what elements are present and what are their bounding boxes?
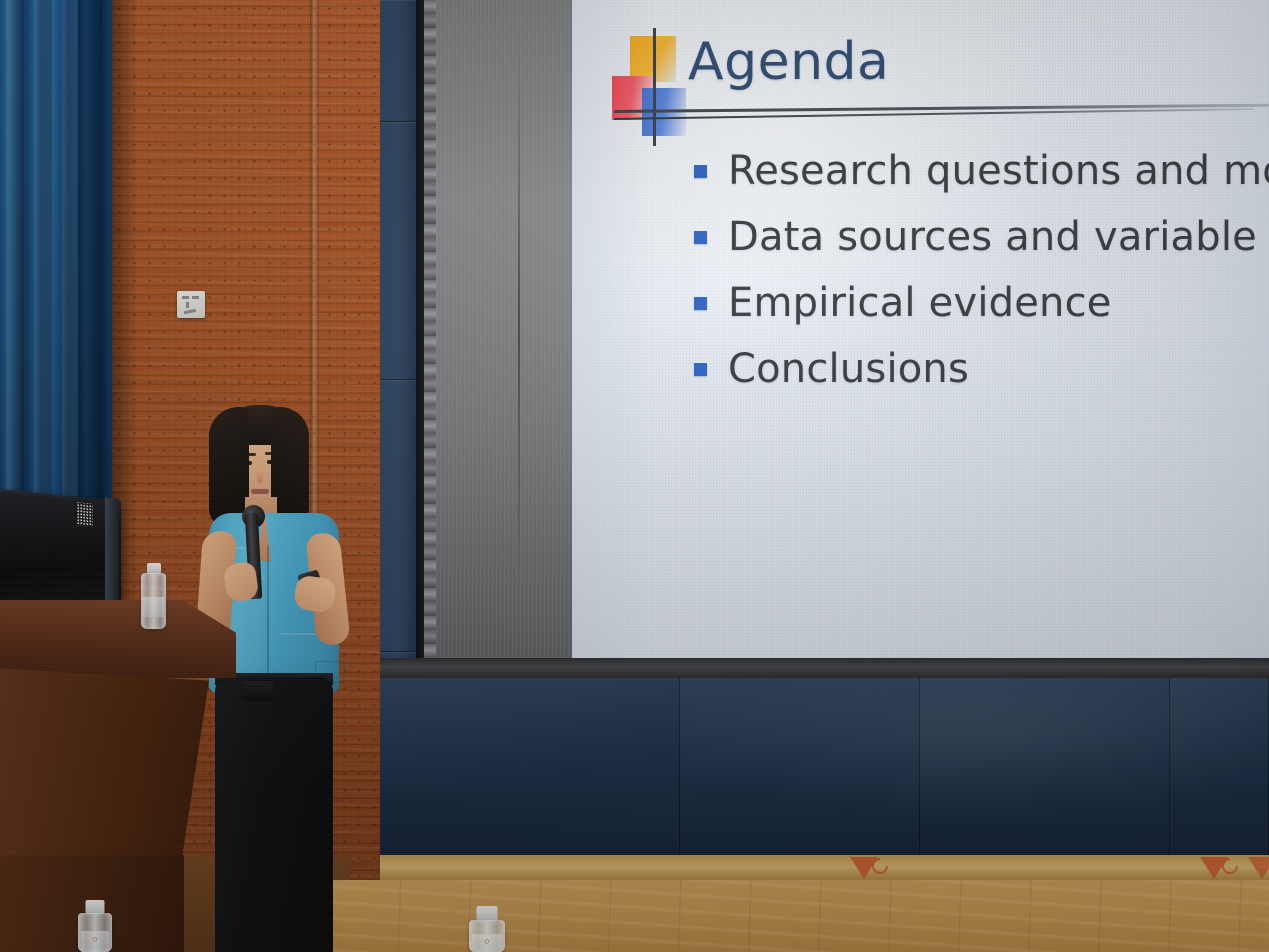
bullet-square-icon [694,363,707,376]
bottle-label [143,597,164,617]
screen-side-gray-panel [436,0,576,665]
trousers [215,677,333,952]
padded-wall-sheen [380,678,1269,858]
bottle-body: ○ [78,913,112,952]
hair-left-side [209,407,249,527]
bullet-square-icon [694,165,707,178]
presenter [185,405,375,952]
bottle-label: ○ [472,934,502,952]
gray-panel-seam [518,40,520,600]
slide-bullet-item: Data sources and variable de [694,204,1269,270]
lectern-body [0,668,209,878]
slide-bullet-list: Research questions and moti Data sources… [694,138,1269,402]
water-bottle: ○ [469,906,505,952]
bullet-square-icon [694,231,707,244]
slide-bullet-item: Research questions and moti [694,138,1269,204]
bottle-label: ○ [81,931,110,952]
bullet-text: Data sources and variable de [728,214,1269,260]
bottle-body: ○ [469,920,505,952]
lectern-top [0,600,236,678]
monitor-screen [0,492,115,617]
bullet-square-icon [694,297,707,310]
slide-bullet-item: Empirical evidence [694,270,1269,336]
qr-code-asset-sticker [76,502,93,527]
logo-vertical-line [653,28,656,146]
bullet-text: Conclusions [728,346,969,392]
water-bottle [141,563,166,629]
slide-title: Agenda [688,32,889,92]
wall-socket-plate[interactable] [177,291,205,318]
bullet-text: Research questions and moti [728,148,1269,194]
waist-drawstring [243,681,273,701]
bottle-cap [477,906,498,921]
bottle-cap [86,900,105,914]
slide-bullet-item: Conclusions [694,336,1269,402]
screen-bottom-bezel [380,658,1269,680]
bottle-body [141,573,166,629]
bullet-text: Empirical evidence [728,280,1112,326]
water-bottle: ○ [78,900,112,952]
monitor-back-edge [105,497,119,616]
presentation-photo-scene: Agenda Research questions and moti Data … [0,0,1269,952]
